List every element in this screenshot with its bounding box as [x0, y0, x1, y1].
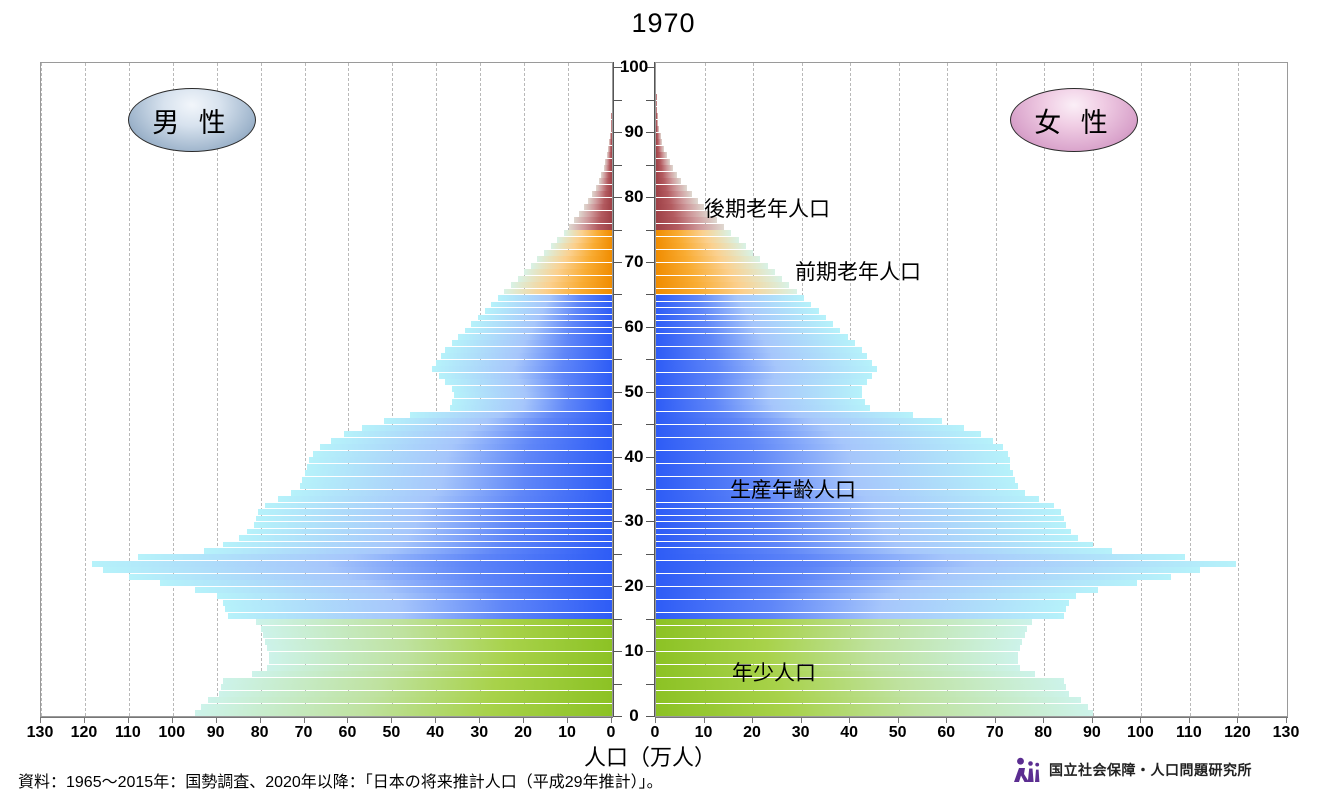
pyramid-bar: [656, 282, 789, 288]
age-tick-label: 70: [613, 252, 655, 272]
x-tick-label: 30: [779, 724, 823, 742]
pyramid-bar: [656, 464, 1010, 470]
pyramid-bar: [223, 542, 612, 548]
pyramid-bar: [656, 289, 797, 295]
pyramid-bar: [656, 107, 657, 113]
pyramid-bar: [656, 353, 867, 359]
pyramid-bar: [656, 600, 1069, 606]
pyramid-bar: [410, 412, 612, 418]
pyramid-bar: [607, 152, 612, 158]
pyramid-bar: [601, 172, 612, 178]
pyramid-bar: [103, 567, 613, 573]
pyramid-bar: [656, 230, 731, 236]
pyramid-bar: [656, 548, 1112, 554]
x-tick-label: 60: [325, 724, 369, 742]
pyramid-bar: [656, 554, 1185, 560]
pyramid-bar: [656, 418, 942, 424]
pyramid-bar: [656, 373, 872, 379]
pyramid-bar: [656, 632, 1025, 638]
pyramid-bar: [219, 691, 612, 697]
annotation-late-elderly: 後期老年人口: [704, 193, 830, 223]
x-tick-label: 60: [924, 724, 968, 742]
age-tick-label: 50: [613, 382, 655, 402]
pyramid-bar: [656, 665, 1020, 671]
pyramid-bar: [656, 211, 710, 217]
pyramid-bar: [291, 490, 612, 496]
pyramid-bar: [223, 600, 612, 606]
pyramid-bar: [656, 256, 760, 262]
pyramid-bar: [432, 366, 612, 372]
pyramid-bar: [267, 665, 612, 671]
gridline: [1287, 63, 1288, 716]
pyramid-bar: [331, 438, 612, 444]
x-tick-label: 40: [827, 724, 871, 742]
pyramid-bar: [498, 295, 612, 301]
pyramid-bar: [656, 619, 1032, 625]
pyramid-bar: [656, 671, 1035, 677]
pyramid-bar: [305, 470, 612, 476]
pyramid-bar: [302, 477, 612, 483]
pyramid-bar: [656, 704, 1088, 710]
pyramid-bar: [599, 178, 612, 184]
pyramid-bar: [656, 593, 1076, 599]
pyramid-bar: [656, 516, 1064, 522]
pyramid-bar: [656, 146, 664, 152]
pyramid-bar: [452, 340, 612, 346]
pyramid-bar: [656, 315, 826, 321]
male-plot-panel: [40, 62, 613, 717]
pyramid-bar: [656, 392, 862, 398]
age-tick-label: 10: [613, 641, 655, 661]
pyramid-bar: [656, 431, 981, 437]
pyramid-bar: [656, 334, 848, 340]
female-label-badge: 女 性: [1010, 88, 1138, 152]
pyramid-bar: [511, 282, 612, 288]
pyramid-bar: [656, 302, 811, 308]
pyramid-bar: [611, 113, 612, 119]
pyramid-bar: [656, 645, 1020, 651]
pyramid-bar: [265, 503, 612, 509]
age-tick-label: 90: [613, 122, 655, 142]
pyramid-bar: [256, 619, 612, 625]
pyramid-bar: [656, 133, 661, 139]
pyramid-bar: [656, 237, 739, 243]
pyramid-bar: [656, 658, 1018, 664]
x-tick-label: 100: [1118, 724, 1162, 742]
pyramid-bar: [344, 431, 612, 437]
pyramid-bar: [656, 535, 1078, 541]
pyramid-bar: [656, 697, 1081, 703]
pyramid-bar: [254, 522, 612, 528]
x-tick-label: 50: [876, 724, 920, 742]
x-tick-label: 80: [1021, 724, 1065, 742]
pyramid-bar: [504, 289, 612, 295]
pyramid-bar: [656, 399, 865, 405]
pyramid-bar: [656, 165, 673, 171]
pyramid-bar: [656, 639, 1022, 645]
pyramid-bar: [458, 334, 612, 340]
x-tick-label: 120: [62, 724, 106, 742]
pyramid-bar: [656, 360, 872, 366]
pyramid-bar: [656, 120, 658, 126]
pyramid-bar: [518, 276, 612, 282]
pyramid-bar: [656, 678, 1064, 684]
annotation-youth: 年少人口: [732, 657, 816, 687]
pyramid-bar: [656, 386, 862, 392]
x-tick-label: 70: [973, 724, 1017, 742]
pyramid-bar: [531, 263, 612, 269]
pyramid-bar: [92, 561, 612, 567]
pyramid-bar: [247, 529, 612, 535]
pyramid-bar: [265, 639, 612, 645]
pyramid-bar: [452, 386, 612, 392]
x-tick-label: 80: [238, 724, 282, 742]
pyramid-bar: [609, 139, 612, 145]
pyramid-bar: [656, 243, 746, 249]
x-tick-label: 90: [194, 724, 238, 742]
pyramid-bar: [223, 678, 612, 684]
pyramid-bar: [656, 113, 658, 119]
male-x-axis-line: [40, 717, 613, 718]
pyramid-bar: [138, 554, 612, 560]
pyramid-bar: [537, 256, 612, 262]
pyramid-bar: [656, 185, 687, 191]
x-tick-label: 120: [1215, 724, 1259, 742]
x-tick-label: 130: [1264, 724, 1308, 742]
pyramid-bar: [611, 120, 612, 126]
pyramid-bar: [256, 516, 612, 522]
pyramid-bar: [441, 353, 612, 359]
male-badge-text: 男 性: [152, 101, 232, 140]
pyramid-bar: [228, 613, 612, 619]
pyramid-bar: [269, 658, 612, 664]
pyramid-bar: [656, 198, 698, 204]
pyramid-bar: [656, 204, 704, 210]
pyramid-bar: [588, 198, 612, 204]
pyramid-bar: [544, 250, 612, 256]
pyramid-bar: [524, 269, 612, 275]
pyramid-bar: [160, 580, 612, 586]
pyramid-bar: [436, 360, 612, 366]
pyramid-bar: [656, 94, 657, 100]
age-tick-label: 20: [613, 576, 655, 596]
x-tick-label: 40: [413, 724, 457, 742]
pyramid-bar: [485, 308, 612, 314]
female-badge-text: 女 性: [1034, 101, 1114, 140]
pyramid-bar: [656, 178, 681, 184]
pyramid-bar: [592, 191, 612, 197]
pyramid-bar: [208, 697, 612, 703]
pyramid-bar: [656, 684, 1066, 690]
pyramid-bar: [195, 587, 612, 593]
x-tick-label: 110: [1167, 724, 1211, 742]
pyramid-bar: [656, 451, 1008, 457]
pyramid-bar: [656, 425, 964, 431]
pyramid-bar: [239, 535, 612, 541]
x-tick-label: 130: [18, 724, 62, 742]
pyramid-bar: [263, 632, 612, 638]
pyramid-bar: [656, 159, 670, 165]
pyramid-bar: [656, 438, 993, 444]
pyramid-bar: [201, 704, 612, 710]
pyramid-bar: [656, 405, 870, 411]
pyramid-bar: [656, 710, 1093, 716]
pyramid-bar: [465, 328, 612, 334]
pyramid-bar: [596, 185, 612, 191]
pyramid-bar: [656, 172, 677, 178]
pyramid-bar: [478, 315, 612, 321]
pyramid-bar: [252, 671, 612, 677]
pyramid-bar: [454, 392, 612, 398]
pyramid-bar: [656, 250, 753, 256]
age-axis: 0102030405060708090100: [613, 62, 655, 717]
pyramid-bar: [656, 126, 659, 132]
age-tick-label: 80: [613, 187, 655, 207]
pyramid-bar: [656, 587, 1098, 593]
pyramid-bar: [320, 444, 612, 450]
x-tick-label: 70: [282, 724, 326, 742]
pyramid-bar: [656, 509, 1061, 515]
pyramid-bar: [656, 529, 1071, 535]
pyramid-bar: [656, 691, 1069, 697]
pyramid-bar: [574, 217, 612, 223]
pyramid-bar: [309, 457, 612, 463]
pyramid-bar: [656, 328, 840, 334]
pyramid-bar: [225, 606, 612, 612]
pyramid-bar: [604, 165, 612, 171]
x-tick-label: 100: [150, 724, 194, 742]
pyramid-bar: [656, 224, 724, 230]
pyramid-bar: [656, 295, 804, 301]
pyramid-bar: [656, 139, 662, 145]
pyramid-bar: [261, 626, 612, 632]
pyramid-bar: [656, 308, 819, 314]
pyramid-bar: [656, 152, 667, 158]
pyramid-bar: [656, 321, 833, 327]
pyramid-bar: [204, 548, 612, 554]
pyramid-bar: [656, 652, 1018, 658]
x-tick-label: 30: [457, 724, 501, 742]
pyramid-bar: [471, 321, 612, 327]
pyramid-bar: [656, 580, 1137, 586]
pyramid-bar: [557, 237, 612, 243]
pyramid-bar: [551, 243, 612, 249]
pyramid-bar: [656, 412, 913, 418]
pyramid-bar: [656, 379, 867, 385]
pyramid-bar: [656, 457, 1010, 463]
female-x-axis-line: [655, 717, 1288, 718]
pyramid-bar: [221, 684, 612, 690]
institute-name: 国立社会保障・人口問題研究所: [1049, 760, 1252, 780]
pyramid-bar: [656, 366, 877, 372]
pyramid-bar: [611, 126, 612, 132]
pyramid-bar: [605, 159, 612, 165]
pyramid-bar: [610, 133, 612, 139]
pyramid-bar: [656, 347, 862, 353]
pyramid-bar: [656, 101, 657, 107]
pyramid-bar: [300, 483, 612, 489]
pyramid-bar: [217, 593, 612, 599]
age-tick-label: 30: [613, 511, 655, 531]
pyramid-bar: [569, 224, 612, 230]
age-tick-label: 40: [613, 447, 655, 467]
pyramid-bar: [656, 567, 1200, 573]
pyramid-bar: [445, 347, 612, 353]
pyramid-bar: [579, 211, 612, 217]
pyramid-bar: [656, 191, 692, 197]
male-bars: [41, 63, 612, 716]
institute-logo: 国立社会保障・人口問題研究所: [1012, 757, 1252, 783]
pyramid-bar: [445, 379, 612, 385]
x-tick-label: 50: [369, 724, 413, 742]
pyramid-bar: [491, 302, 612, 308]
pyramid-bar: [656, 626, 1027, 632]
female-plot-panel: [655, 62, 1288, 717]
age-tick-label: 60: [613, 317, 655, 337]
male-label-badge: 男 性: [128, 88, 256, 152]
x-tick-label: 110: [106, 724, 150, 742]
pyramid-bar: [656, 542, 1093, 548]
pyramid-bar: [439, 373, 612, 379]
female-bars: [656, 63, 1287, 716]
pyramid-bar: [656, 574, 1171, 580]
pyramid-bar: [452, 399, 612, 405]
pyramid-bar: [584, 204, 612, 210]
age-tick-label: 100: [613, 57, 655, 77]
pyramid-bar: [564, 230, 612, 236]
pyramid-bar: [307, 464, 612, 470]
annotation-early-elderly: 前期老年人口: [795, 256, 921, 286]
pyramid-bar: [656, 522, 1066, 528]
pyramid-bar: [656, 263, 768, 269]
annotation-working-age: 生産年齢人口: [730, 474, 856, 504]
pyramid-bar: [267, 645, 612, 651]
pyramid-bar: [129, 574, 612, 580]
age-tick-label: 0: [613, 706, 655, 726]
pyramid-bar: [656, 269, 775, 275]
pyramid-bar: [278, 496, 612, 502]
pyramid-bar: [269, 652, 612, 658]
pyramid-bar: [656, 606, 1066, 612]
pyramid-bar: [656, 340, 855, 346]
person-group-icon: [1012, 757, 1042, 783]
source-note: 資料：1965～2015年：国勢調査、2020年以降：「日本の将来推計人口（平成…: [18, 768, 663, 792]
pyramid-bar: [195, 710, 612, 716]
pyramid-bar: [450, 405, 613, 411]
pyramid-bar: [258, 509, 612, 515]
chart-title: 1970: [0, 8, 1327, 39]
pyramid-bar: [608, 146, 612, 152]
pyramid-bar: [656, 276, 782, 282]
pyramid-bar: [313, 451, 612, 457]
pyramid-bar: [656, 561, 1236, 567]
x-tick-label: 90: [1070, 724, 1114, 742]
pyramid-bar: [656, 613, 1064, 619]
pyramid-bar: [362, 425, 612, 431]
pyramid-bar: [656, 444, 1003, 450]
pyramid-bar: [384, 418, 612, 424]
